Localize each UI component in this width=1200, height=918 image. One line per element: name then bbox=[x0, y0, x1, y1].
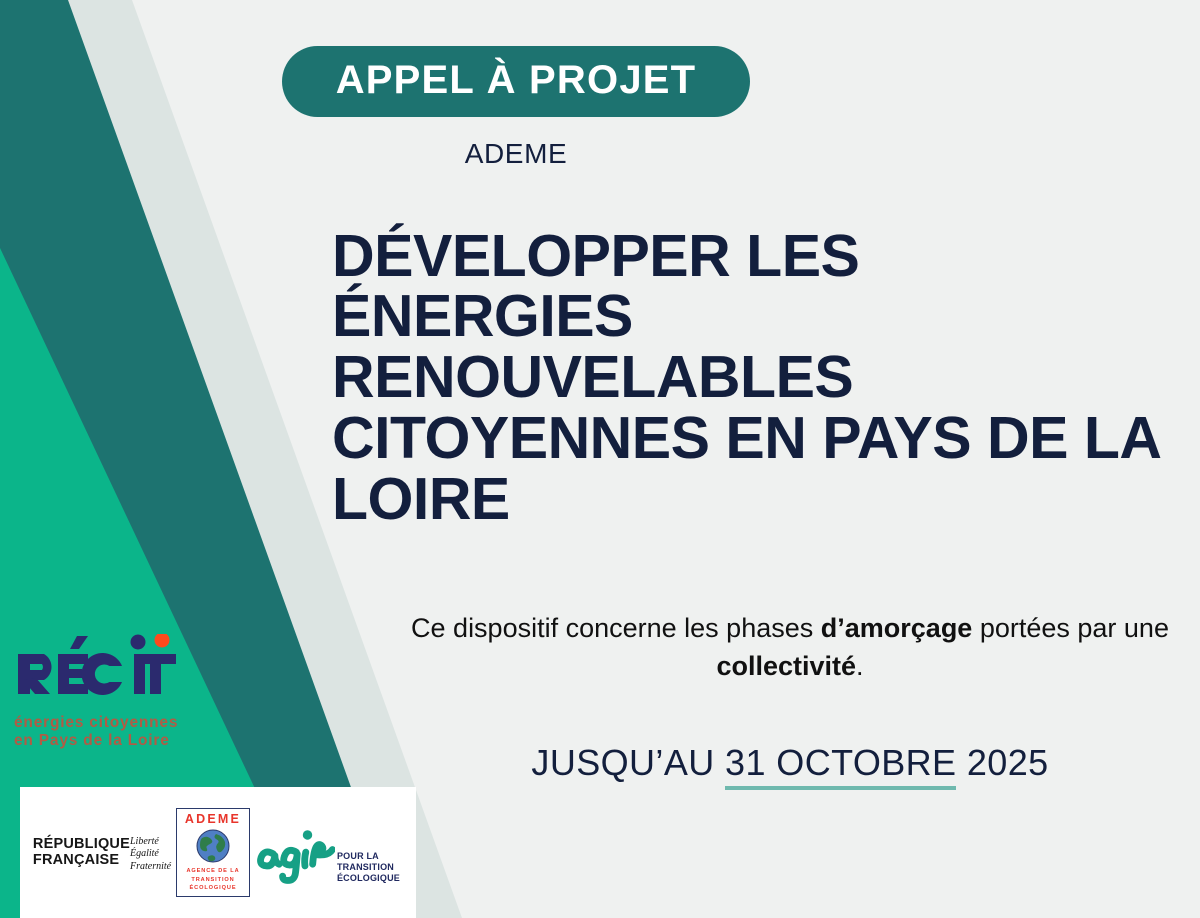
rf-motto-line3: Fraternité bbox=[130, 861, 171, 873]
agir-sub-line1: POUR LA bbox=[337, 851, 400, 862]
badge-container: APPEL À PROJET bbox=[236, 46, 796, 117]
appel-a-projet-badge: APPEL À PROJET bbox=[282, 46, 751, 117]
recit-tagline-line2: en Pays de la Loire bbox=[14, 732, 224, 750]
agir-sub-line3: ÉCOLOGIQUE bbox=[337, 873, 400, 884]
ademe-subtitle: AGENCE DE LA TRANSITION ÉCOLOGIQUE bbox=[180, 867, 246, 892]
deadline-prefix: JUSQU’AU bbox=[531, 742, 725, 783]
ademe-sub-line2: TRANSITION bbox=[180, 876, 246, 884]
recit-dot-navy bbox=[131, 635, 146, 650]
rf-name-line1: RÉPUBLIQUE bbox=[33, 837, 130, 853]
agir-subtitle: POUR LA TRANSITION ÉCOLOGIQUE bbox=[337, 851, 400, 890]
rf-name-line2: FRANÇAISE bbox=[33, 853, 130, 869]
ademe-logo: ADEME AGENCE DE LA TRANSITION ÉCOLOGIQUE bbox=[176, 808, 250, 898]
deadline-text: JUSQU’AU 31 OCTOBRE 2025 bbox=[420, 742, 1160, 784]
deadline-suffix: 2025 bbox=[956, 742, 1048, 783]
republique-francaise-name: RÉPUBLIQUE FRANÇAISE bbox=[33, 837, 130, 868]
recit-wordmark-icon bbox=[14, 634, 214, 708]
recit-logo: énergies citoyennes en Pays de la Loire bbox=[14, 634, 224, 751]
globe-icon bbox=[195, 828, 231, 864]
agir-dot-icon bbox=[303, 830, 312, 839]
description-part-1: Ce dispositif concerne les phases bbox=[411, 613, 821, 643]
ademe-sub-line1: AGENCE DE LA bbox=[180, 867, 246, 875]
recit-dot-orange bbox=[155, 634, 170, 648]
agir-wordmark-icon bbox=[256, 816, 335, 890]
ademe-sub-line3: ÉCOLOGIQUE bbox=[180, 884, 246, 892]
poster-canvas: APPEL À PROJET ADEME Développer les éner… bbox=[0, 0, 1200, 918]
ademe-logo-cell: ADEME AGENCE DE LA TRANSITION ÉCOLOGIQUE bbox=[176, 808, 250, 898]
republique-francaise-motto: Liberté Égalité Fraternité bbox=[130, 836, 171, 873]
recit-tagline: énergies citoyennes en Pays de la Loire bbox=[14, 714, 224, 751]
description-paragraph: Ce dispositif concerne les phases d’amor… bbox=[400, 609, 1180, 686]
deadline-date-highlight: 31 OCTOBRE bbox=[725, 742, 956, 790]
agir-logo: POUR LA TRANSITION ÉCOLOGIQUE bbox=[250, 816, 400, 890]
description-strong-1: d’amorçage bbox=[821, 613, 973, 643]
ademe-wordmark: ADEME bbox=[180, 813, 246, 826]
recit-tagline-line1: énergies citoyennes bbox=[14, 714, 224, 732]
republique-francaise-logo: RÉPUBLIQUE FRANÇAISE Liberté Égalité Fra… bbox=[30, 832, 158, 873]
rf-motto-line2: Égalité bbox=[130, 848, 171, 860]
rf-motto-line1: Liberté bbox=[130, 836, 171, 848]
partner-logo-strip: RÉPUBLIQUE FRANÇAISE Liberté Égalité Fra… bbox=[20, 787, 416, 918]
organisation-kicker: ADEME bbox=[236, 138, 796, 170]
description-part-3: . bbox=[856, 651, 864, 681]
page-title: Développer les énergies renouvelables ci… bbox=[332, 226, 1162, 530]
agir-sub-line2: TRANSITION bbox=[337, 862, 400, 873]
description-strong-2: collectivité bbox=[716, 651, 856, 681]
description-part-2: portées par une bbox=[972, 613, 1169, 643]
